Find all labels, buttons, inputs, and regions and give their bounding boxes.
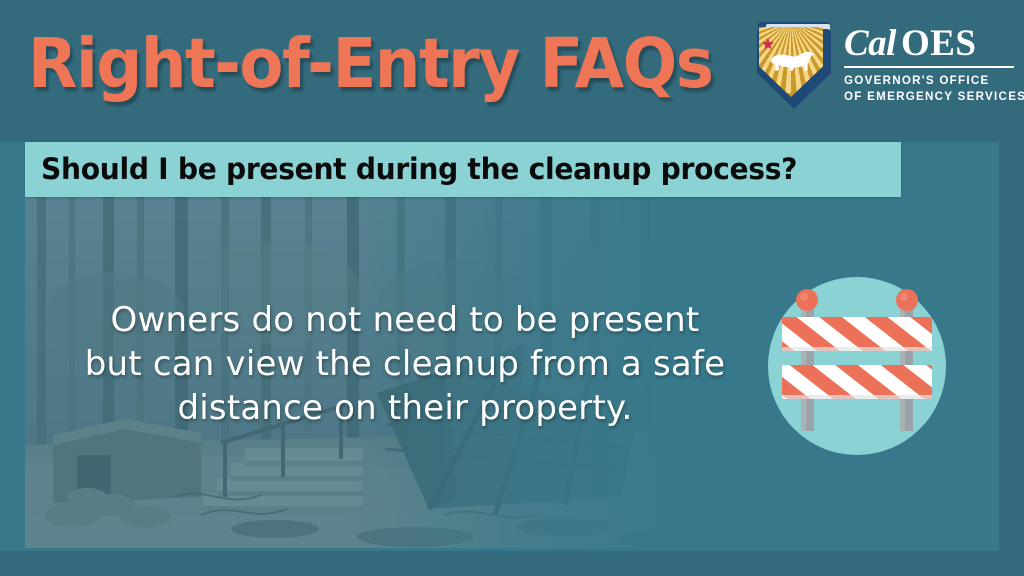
cal-oes-shield-icon — [754, 22, 838, 116]
answer-line-1: Owners do not need to be present — [60, 298, 750, 342]
logo-tagline-line2: OF EMERGENCY SERVICES — [844, 89, 1007, 104]
question-text: Should I be present during the cleanup p… — [41, 151, 797, 188]
page-title: Right-of-Entry FAQs — [28, 18, 712, 110]
slide-header: Right-of-Entry FAQs — [0, 0, 1024, 142]
barricade-cap-left — [796, 289, 818, 311]
cal-oes-name: CalOES — [844, 24, 1016, 64]
question-banner: Should I be present during the cleanup p… — [25, 142, 901, 197]
brand-cal: Cal — [844, 23, 896, 64]
answer-line-2: but can view the cleanup from a safe — [60, 342, 750, 386]
answer-text: Owners do not need to be present but can… — [60, 298, 750, 430]
answer-line-3: distance on their property. — [60, 386, 750, 430]
road-barricade-icon — [768, 277, 946, 455]
cal-oes-logo: CalOES GOVERNOR'S OFFICE OF EMERGENCY SE… — [748, 18, 1016, 114]
barricade-cap-right — [896, 289, 918, 311]
cal-oes-wordmark: CalOES GOVERNOR'S OFFICE OF EMERGENCY SE… — [844, 24, 1016, 104]
logo-tagline-line1: GOVERNOR'S OFFICE — [844, 73, 1007, 88]
logo-divider — [844, 66, 1014, 68]
california-bear-icon — [769, 44, 815, 78]
faq-slide: Right-of-Entry FAQs — [0, 0, 1024, 576]
brand-oes: OES — [901, 23, 977, 64]
